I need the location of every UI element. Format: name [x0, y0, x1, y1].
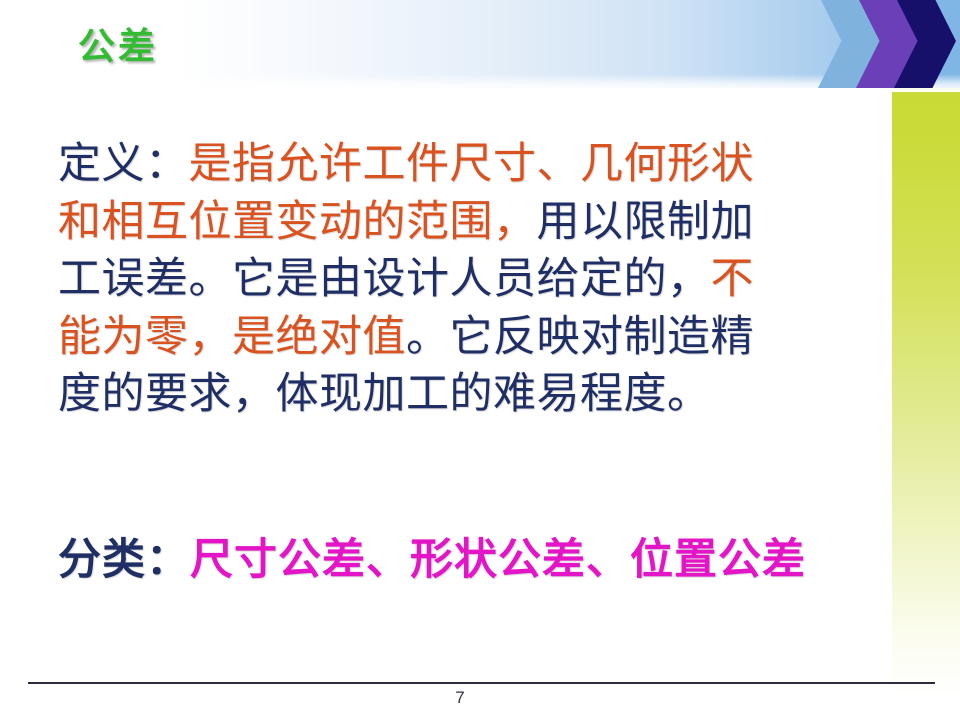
classification-value: 尺寸公差、形状公差、位置公差 [190, 537, 806, 584]
definition-text-segment: 是指允许工件尺寸、几何形状 [189, 141, 755, 188]
header-band-fade [0, 74, 960, 92]
right-edge-decorative-band [892, 0, 960, 720]
classification-paragraph: 分类：尺寸公差、形状公差、位置公差 [58, 533, 898, 589]
definition-text-segment: 不 [711, 256, 755, 303]
definition-text-segment: 。它反映对制造精 [406, 314, 754, 361]
definition-label: 定义： [58, 141, 189, 188]
definition-line-1: 定义：是指允许工件尺寸、几何形状 [58, 136, 868, 194]
classification-label: 分类： [58, 537, 190, 584]
definition-text-segment: 用以限制加 [537, 199, 755, 246]
definition-line-5: 度的要求，体现加工的难易程度。 [58, 366, 868, 424]
slide-canvas: 公差 定义：是指允许工件尺寸、几何形状 和相互位置变动的范围，用以限制加 工误差… [0, 0, 960, 720]
chevron-bottom-mask [818, 88, 892, 118]
definition-text-segment: 度的要求，体现加工的难易程度。 [58, 371, 711, 418]
slide-title: 公差 [78, 16, 158, 70]
definition-line-3: 工误差。它是由设计人员给定的，不 [58, 251, 868, 309]
page-number: 7 [0, 688, 920, 708]
definition-line-2: 和相互位置变动的范围，用以限制加 [58, 194, 868, 252]
definition-line-4: 能为零，是绝对值。它反映对制造精 [58, 309, 868, 367]
classification-line: 分类：尺寸公差、形状公差、位置公差 [58, 533, 898, 589]
definition-text-segment: 工误差。它是由设计人员给定的， [58, 256, 711, 303]
footer-divider [28, 682, 935, 684]
definition-paragraph: 定义：是指允许工件尺寸、几何形状 和相互位置变动的范围，用以限制加 工误差。它是… [58, 136, 868, 424]
definition-text-segment: 和相互位置变动的范围， [58, 199, 537, 246]
definition-text-segment: 能为零，是绝对值 [58, 314, 406, 361]
